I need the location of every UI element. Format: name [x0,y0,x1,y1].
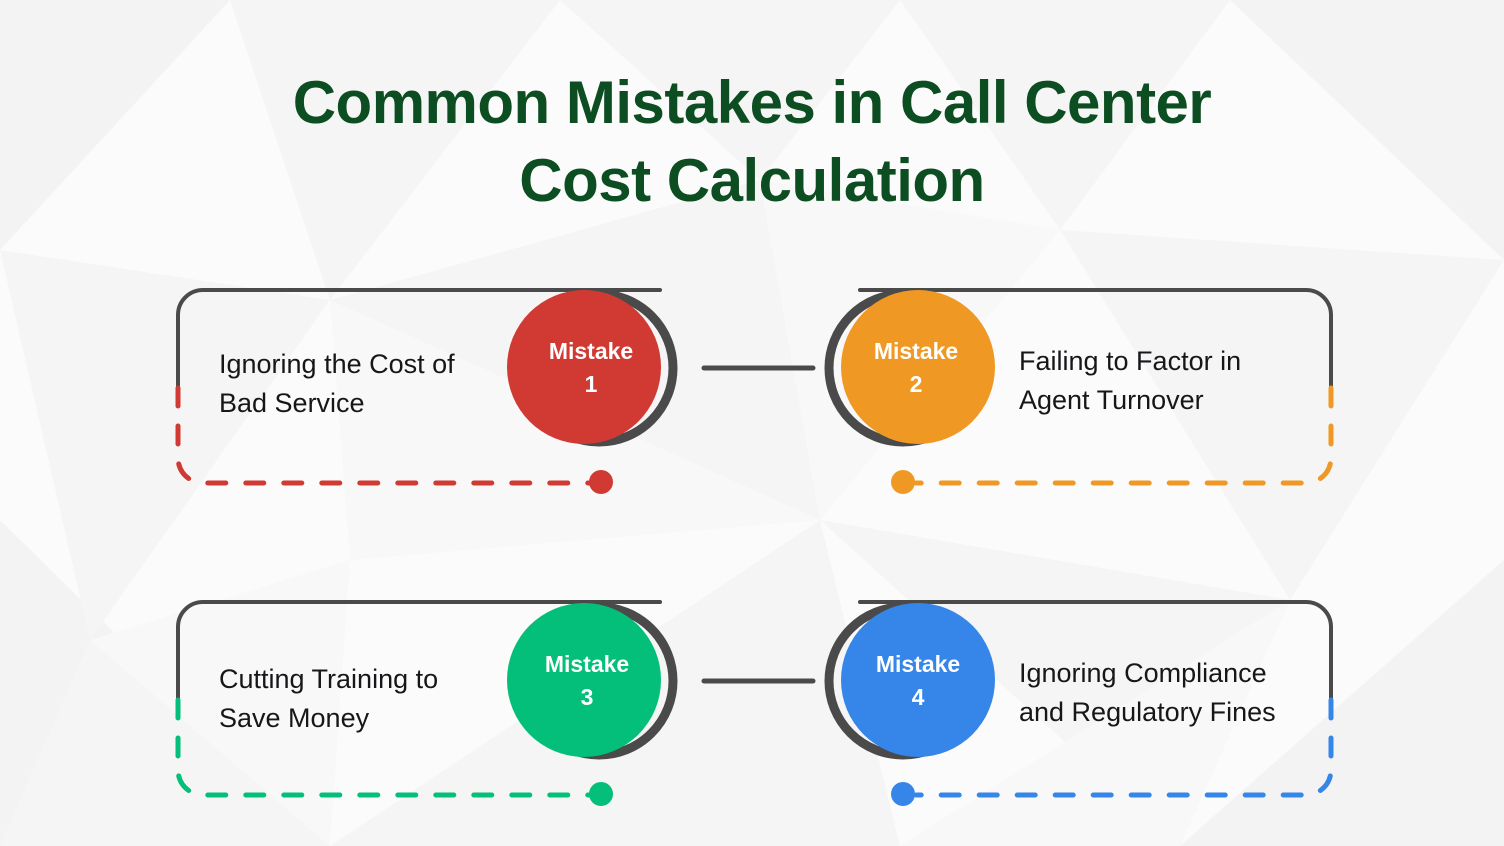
infographic-canvas: Common Mistakes in Call Center Cost Calc… [0,0,1504,846]
dash-end-dot-mistake-3 [589,782,613,806]
card-label-mistake-3: Cutting Training to Save Money [219,660,509,738]
dash-end-dot-mistake-2 [891,470,915,494]
card-label-mistake-2: Failing to Factor in Agent Turnover [1019,342,1329,420]
badge-mistake-3[interactable] [507,603,673,757]
badge-mistake-4[interactable] [829,603,995,757]
card-label-mistake-1: Ignoring the Cost of Bad Service [219,345,509,423]
badge-mistake-2[interactable] [829,290,995,444]
badge-mistake-1[interactable] [507,290,673,444]
dash-end-dot-mistake-1 [589,470,613,494]
card-label-mistake-4: Ignoring Compliance and Regulatory Fines [1019,654,1329,732]
dash-end-dot-mistake-4 [891,782,915,806]
